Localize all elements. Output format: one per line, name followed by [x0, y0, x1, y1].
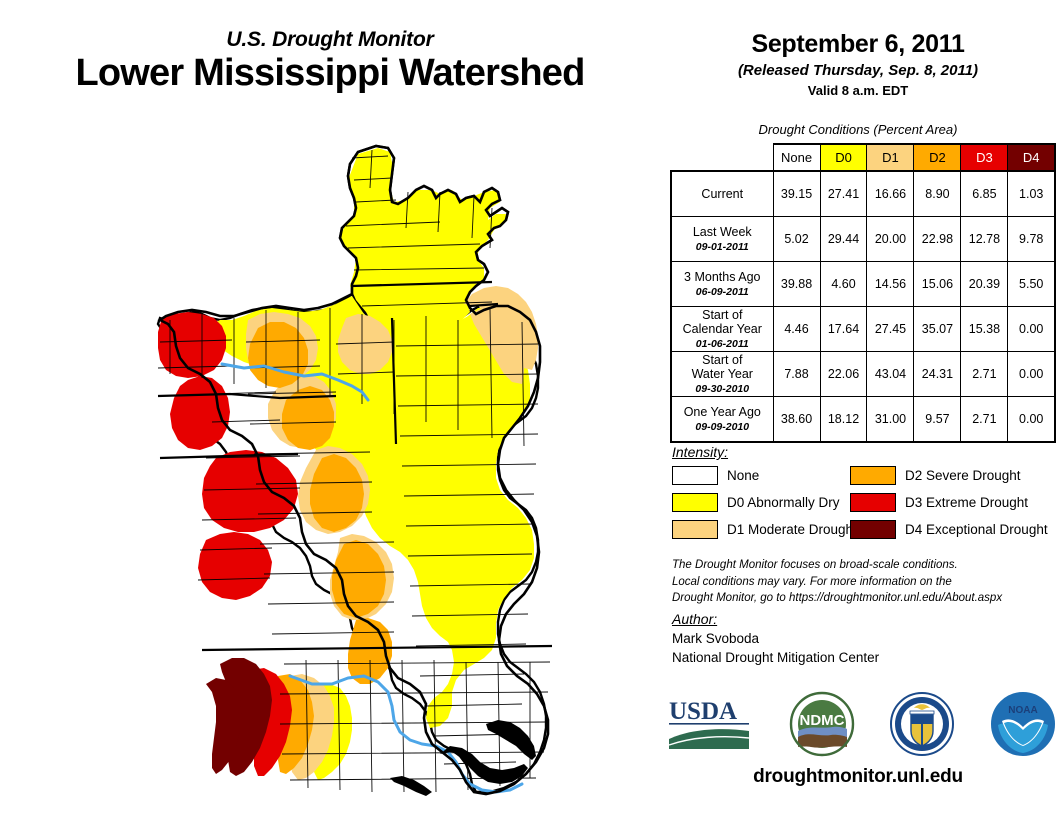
table-row: Start ofCalendar Year01-06-20114.4617.64…: [671, 307, 1055, 352]
drought-conditions-table: None D0 D1 D2 D3 D4 Current39.1527.4116.…: [670, 143, 1056, 443]
disclaimer-line-2: Local conditions may vary. For more info…: [672, 574, 1052, 591]
cell-d4: 9.78: [1008, 217, 1055, 262]
intensity-legend-title: Intensity:: [672, 444, 1052, 460]
legend-swatch-none: [672, 466, 718, 485]
row-label: Current: [671, 171, 773, 217]
cell-d2: 35.07: [914, 307, 961, 352]
drought-map-svg[interactable]: [140, 128, 660, 800]
legend-swatch-d1: [672, 520, 718, 539]
table-row: Start ofWater Year09-30-20107.8822.0643.…: [671, 352, 1055, 397]
cell-d4: 1.03: [1008, 171, 1055, 217]
table-caption: Drought Conditions (Percent Area): [660, 122, 1056, 137]
cell-d3: 6.85: [961, 171, 1008, 217]
legend-swatch-d4: [850, 520, 896, 539]
cell-d3: 2.71: [961, 352, 1008, 397]
table-body: Current39.1527.4116.668.906.851.03Last W…: [671, 171, 1055, 442]
cell-d1: 20.00: [867, 217, 914, 262]
column-header-d1: D1: [867, 144, 914, 171]
cell-none: 39.15: [773, 171, 820, 217]
legend-item-d0: D0 Abnormally Dry: [672, 493, 850, 512]
column-header-d4: D4: [1008, 144, 1055, 171]
author-organization: National Drought Mitigation Center: [672, 650, 1052, 665]
valid-time: Valid 8 a.m. EDT: [660, 83, 1056, 98]
table-row: Current39.1527.4116.668.906.851.03: [671, 171, 1055, 217]
table-corner-cell: [671, 144, 773, 171]
cell-d0: 27.41: [820, 171, 867, 217]
cell-d4: 0.00: [1008, 307, 1055, 352]
svg-text:USDA: USDA: [669, 698, 737, 725]
cell-d4: 5.50: [1008, 262, 1055, 307]
author-block: Author: Mark Svoboda National Drought Mi…: [672, 611, 1052, 665]
cell-none: 39.88: [773, 262, 820, 307]
cell-none: 4.46: [773, 307, 820, 352]
cell-d4: 0.00: [1008, 352, 1055, 397]
row-label-date: 09-09-2010: [672, 421, 773, 433]
row-label-date: 01-06-2011: [672, 338, 773, 350]
legend-label-d3: D3 Extreme Drought: [905, 495, 1028, 510]
site-url[interactable]: droughtmonitor.unl.edu: [660, 766, 1056, 788]
cell-none: 5.02: [773, 217, 820, 262]
legend-item-d4: D4 Exceptional Drought: [850, 520, 1052, 539]
intensity-legend: Intensity: NoneD2 Severe DroughtD0 Abnor…: [672, 444, 1052, 539]
noaa-logo: NOAA: [990, 691, 1056, 762]
disclaimer-line-1: The Drought Monitor focuses on broad-sca…: [672, 557, 1052, 574]
cell-d2: 22.98: [914, 217, 961, 262]
row-label: Start ofCalendar Year01-06-2011: [671, 307, 773, 352]
table-row: Last Week09-01-20115.0229.4420.0022.9812…: [671, 217, 1055, 262]
svg-text:NDMC: NDMC: [799, 712, 844, 729]
column-header-d3: D3: [961, 144, 1008, 171]
legend-item-d2: D2 Severe Drought: [850, 466, 1052, 485]
cell-d2: 24.31: [914, 352, 961, 397]
row-label: Last Week09-01-2011: [671, 217, 773, 262]
author-name: Mark Svoboda: [672, 631, 1052, 646]
legend-label-d1: D1 Moderate Drought: [727, 522, 857, 537]
legend-label-d4: D4 Exceptional Drought: [905, 522, 1048, 537]
drought-monitor-supertitle: U.S. Drought Monitor: [0, 28, 660, 52]
cell-d2: 9.57: [914, 397, 961, 443]
cell-d2: 15.06: [914, 262, 961, 307]
cell-d0: 4.60: [820, 262, 867, 307]
drought-conditions-table-wrap: None D0 D1 D2 D3 D4 Current39.1527.4116.…: [670, 143, 1056, 443]
row-label: One Year Ago09-09-2010: [671, 397, 773, 443]
legend-label-d0: D0 Abnormally Dry: [727, 495, 840, 510]
legend-item-d1: D1 Moderate Drought: [672, 520, 850, 539]
cell-d3: 15.38: [961, 307, 1008, 352]
legend-label-d2: D2 Severe Drought: [905, 468, 1021, 483]
row-label-date: 09-01-2011: [672, 241, 773, 253]
usda-logo: USDA: [668, 693, 754, 760]
cell-d1: 27.45: [867, 307, 914, 352]
table-row: 3 Months Ago06-09-201139.884.6014.5615.0…: [671, 262, 1055, 307]
svg-text:NOAA: NOAA: [1008, 705, 1037, 716]
cell-d4: 0.00: [1008, 397, 1055, 443]
cell-d1: 43.04: [867, 352, 914, 397]
legend-item-none: None: [672, 466, 850, 485]
title-block: U.S. Drought Monitor Lower Mississippi W…: [0, 28, 660, 94]
legend-swatch-d3: [850, 493, 896, 512]
legend-grid: NoneD2 Severe DroughtD0 Abnormally DryD3…: [672, 466, 1052, 539]
cell-d1: 16.66: [867, 171, 914, 217]
cell-none: 38.60: [773, 397, 820, 443]
column-header-d2: D2: [914, 144, 961, 171]
cell-d0: 17.64: [820, 307, 867, 352]
legend-label-none: None: [727, 468, 759, 483]
cell-none: 7.88: [773, 352, 820, 397]
row-label: 3 Months Ago06-09-2011: [671, 262, 773, 307]
logo-row: USDA NDMC: [668, 690, 1056, 762]
cell-d0: 29.44: [820, 217, 867, 262]
release-date: (Released Thursday, Sep. 8, 2011): [660, 62, 1056, 79]
cell-d1: 14.56: [867, 262, 914, 307]
cell-d3: 12.78: [961, 217, 1008, 262]
legend-item-d3: D3 Extreme Drought: [850, 493, 1052, 512]
legend-swatch-d2: [850, 466, 896, 485]
row-label-date: 09-30-2010: [672, 383, 773, 395]
drought-map[interactable]: [140, 128, 660, 800]
table-header-row: None D0 D1 D2 D3 D4: [671, 144, 1055, 171]
cell-d3: 20.39: [961, 262, 1008, 307]
ndmc-logo: NDMC: [789, 691, 855, 762]
disclaimer-text: The Drought Monitor focuses on broad-sca…: [672, 557, 1052, 607]
legend-swatch-d0: [672, 493, 718, 512]
row-label-date: 06-09-2011: [672, 286, 773, 298]
table-row: One Year Ago09-09-201038.6018.1231.009.5…: [671, 397, 1055, 443]
cell-d2: 8.90: [914, 171, 961, 217]
disclaimer-line-3[interactable]: Drought Monitor, go to https://droughtmo…: [672, 590, 1052, 607]
cell-d0: 18.12: [820, 397, 867, 443]
column-header-none: None: [773, 144, 820, 171]
issue-date: September 6, 2011: [660, 30, 1056, 59]
row-label: Start ofWater Year09-30-2010: [671, 352, 773, 397]
usda-seal-logo: [889, 691, 955, 762]
page-title: Lower Mississippi Watershed: [0, 54, 660, 94]
author-title: Author:: [672, 611, 1052, 627]
cell-d3: 2.71: [961, 397, 1008, 443]
date-block: September 6, 2011 (Released Thursday, Se…: [660, 30, 1056, 98]
cell-d0: 22.06: [820, 352, 867, 397]
cell-d1: 31.00: [867, 397, 914, 443]
column-header-d0: D0: [820, 144, 867, 171]
map-panel: U.S. Drought Monitor Lower Mississippi W…: [0, 0, 660, 816]
